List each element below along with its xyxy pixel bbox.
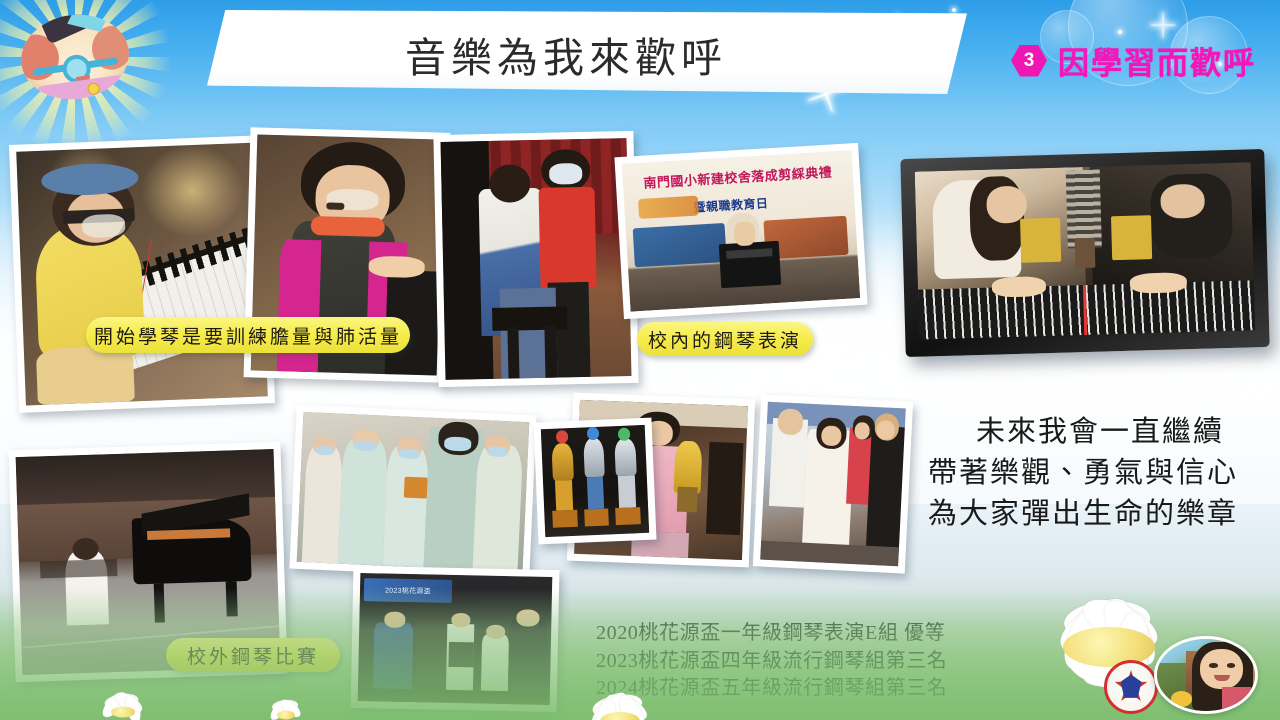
awards-list: 2020桃花源盃一年級鋼琴表演E組 優等 2023桃花源盃四年級流行鋼琴組第三名… <box>596 620 996 703</box>
caption-school-performance: 校內的鋼琴表演 <box>637 322 813 356</box>
photo-school-opening-ceremony: 南門國小新建校舍落成剪綵典禮 暨親職教育日 <box>614 143 867 319</box>
photo-trophies-display <box>533 418 656 545</box>
photo-stage-waiting-performers <box>433 131 638 387</box>
photo-group-award-ceremony <box>289 405 536 580</box>
closing-line-3: 為大家彈出生命的樂章 <box>900 494 1266 535</box>
caption-piano-competition: 校外鋼琴比賽 <box>166 638 340 672</box>
school-seal-stamp-icon <box>1104 660 1158 714</box>
closing-statement: 未來我會一直繼續 帶著樂觀、勇氣與信心 為大家彈出生命的樂章 <box>900 412 1266 536</box>
section-tag: 3 因學習而歡呼 <box>1011 38 1256 83</box>
caption-learning-piano: 開始學琴是要訓練膽量與肺活量 <box>86 317 410 353</box>
award-item: 2024桃花源盃五年級流行鋼琴組第三名 <box>596 675 996 703</box>
mascot-logo <box>2 0 148 118</box>
photo-tv-piano-duet <box>900 149 1269 357</box>
section-number-badge: 3 <box>1011 45 1047 77</box>
photo-family-group-photo <box>753 394 913 573</box>
award-item: 2020桃花源盃一年級鋼琴表演E組 優等 <box>596 620 996 648</box>
photo-girl-playing-piano-yellow <box>9 135 275 413</box>
page-title: 音樂為我來歡呼 <box>207 10 967 94</box>
award-item: 2023桃花源盃四年級流行鋼琴組第三名 <box>596 648 996 676</box>
closing-line-1: 未來我會一直繼續 <box>900 412 1266 453</box>
closing-line-2: 帶著樂觀、勇氣與信心 <box>900 453 1266 494</box>
section-label: 因學習而歡呼 <box>1058 38 1256 83</box>
slide-root: 音樂為我來歡呼 3 因學習而歡呼 <box>0 0 1280 720</box>
sparkle-dot-icon <box>1118 30 1122 34</box>
photo-competition-stage-lineup: 2023桃花源盃 <box>351 566 560 712</box>
photo-oval-portrait-girl <box>1154 636 1258 714</box>
competition-banner-text: 2023桃花源盃 <box>367 581 448 601</box>
